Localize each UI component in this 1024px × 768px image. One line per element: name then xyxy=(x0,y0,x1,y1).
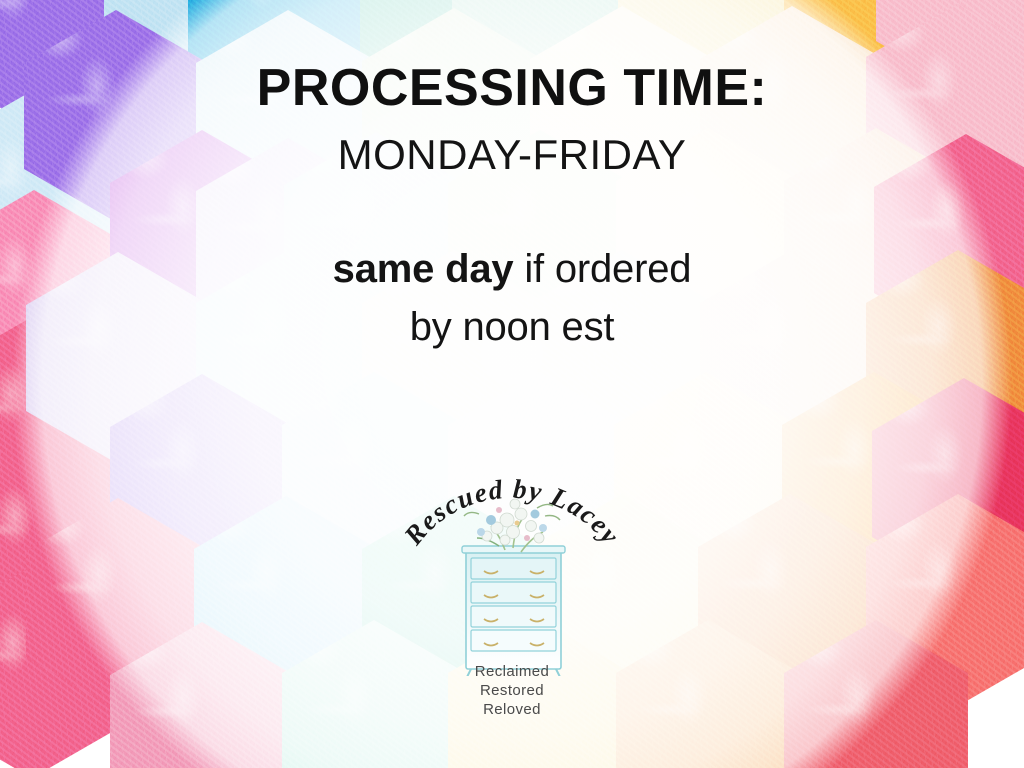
poster-canvas: PROCESSING TIME: MONDAY-FRIDAY same day … xyxy=(0,0,1024,768)
body-line-1: same day if ordered xyxy=(333,248,692,290)
dresser-illustration xyxy=(462,546,565,676)
body-emphasis: same day xyxy=(333,247,514,291)
page-subtitle: MONDAY-FRIDAY xyxy=(338,134,687,176)
brand-arc-textpath: Rescued by Lacey xyxy=(397,476,626,551)
page-title: PROCESSING TIME: xyxy=(257,62,768,114)
tagline-line-1: Reclaimed xyxy=(387,662,637,681)
logo-illustration: Rescued by Lacey xyxy=(387,476,637,676)
tagline-line-2: Restored xyxy=(387,681,637,700)
brand-logo: Rescued by Lacey xyxy=(387,476,637,746)
body-line-1-rest: if ordered xyxy=(513,247,691,291)
brand-tagline: Reclaimed Restored Reloved xyxy=(387,662,637,719)
body-line-2: by noon est xyxy=(410,306,615,348)
tagline-line-3: Reloved xyxy=(387,700,637,719)
brand-arc-text: Rescued by Lacey xyxy=(397,476,626,551)
